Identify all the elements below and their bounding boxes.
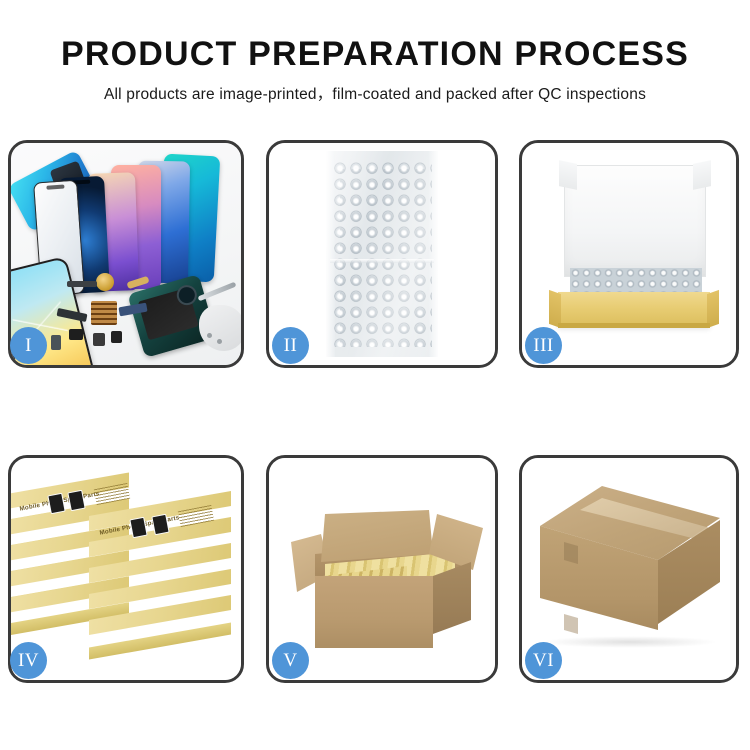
step-number-badge-4: IV [10, 642, 47, 679]
carton-flap-back [321, 510, 433, 562]
process-step-grid: I II [0, 0, 750, 750]
carton-hand-hole [564, 542, 578, 564]
speaker-part-icon [96, 273, 114, 291]
camera-module-icon [51, 335, 61, 350]
box-lid-icon [564, 165, 706, 277]
chip-array-icon [91, 301, 117, 325]
screw-icon [207, 333, 212, 338]
sealed-carton-icon [540, 486, 720, 646]
flex-cable-icon [67, 281, 97, 287]
bubble-wrap-icon [326, 151, 438, 357]
step-4-illustration: Mobile Phone Spare Parts [11, 458, 241, 680]
carton-hand-hole [564, 614, 578, 634]
kraft-box-base-icon [558, 292, 710, 326]
plastic-sheen [326, 151, 438, 357]
step-number-badge-6: VI [525, 642, 562, 679]
step-number-badge-1: I [10, 327, 47, 364]
screw-icon [217, 339, 222, 344]
chip-part-icon [93, 333, 105, 346]
chip-part-icon [111, 331, 122, 343]
step-number-badge-2: II [272, 327, 309, 364]
carton-front [315, 576, 433, 648]
bubble-wrapped-contents-icon [570, 268, 702, 294]
retail-box [89, 620, 231, 646]
chip-part-icon [69, 329, 83, 340]
step-1-illustration [11, 143, 241, 365]
carton-shadow [542, 636, 718, 648]
product-preparation-page: PRODUCT PREPARATION PROCESS All products… [0, 0, 750, 750]
open-carton-icon [299, 500, 469, 650]
step-number-badge-3: III [525, 327, 562, 364]
stacked-boxes-icon: Mobile Phone Spare Parts [11, 472, 233, 668]
box-front-edge [558, 323, 710, 328]
step-number-badge-5: V [272, 642, 309, 679]
phone-notch-icon [46, 185, 64, 190]
